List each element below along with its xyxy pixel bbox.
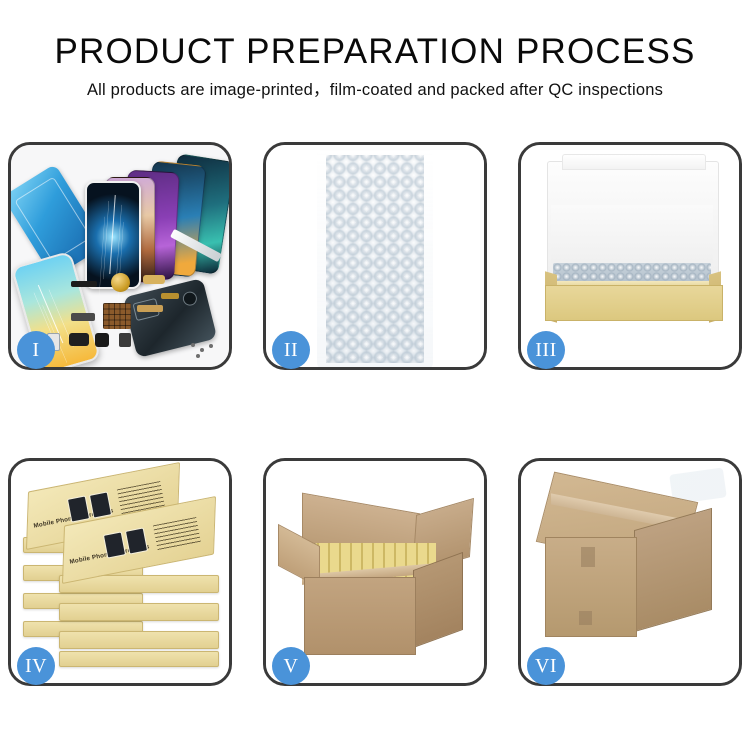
screws-icon — [191, 343, 217, 359]
page-title: PRODUCT PREPARATION PROCESS — [0, 30, 750, 74]
part-connector-icon — [71, 313, 95, 321]
phone-cracked-screen-icon — [85, 181, 141, 289]
step-badge-3: III — [527, 331, 565, 369]
carton-right-panel-icon — [413, 552, 463, 648]
step-badge-4: IV — [17, 647, 55, 685]
step-badge-6: VI — [527, 647, 565, 685]
step-card-1[interactable]: I — [8, 142, 232, 370]
part-flex-cable-icon — [137, 305, 163, 312]
part-strip-icon — [71, 281, 97, 287]
carton-side-panel-icon — [634, 508, 712, 632]
part-camera-icon — [95, 333, 109, 347]
process-steps-grid: I II III — [8, 142, 742, 686]
part-speaker-icon — [69, 333, 89, 346]
stacked-box-icon — [59, 603, 219, 621]
page-subtitle: All products are image-printed，film-coat… — [0, 79, 750, 101]
step-card-3[interactable]: III — [518, 142, 742, 370]
part-contact-icon — [161, 293, 179, 299]
page-header: PRODUCT PREPARATION PROCESS All products… — [0, 30, 750, 101]
coil-part-icon — [111, 273, 130, 292]
carton-flap-tab-icon — [581, 547, 595, 567]
box-front-panel-icon — [545, 285, 723, 321]
step-card-6[interactable]: VI — [518, 458, 742, 686]
step-badge-5: V — [272, 647, 310, 685]
stacked-box-icon — [59, 631, 219, 649]
part-flex-gold-icon — [143, 275, 165, 284]
step-card-2[interactable]: II — [263, 142, 487, 370]
foam-sheet-icon — [551, 205, 713, 263]
bubble-wrap-icon — [326, 155, 424, 363]
chip-grid-icon — [103, 303, 131, 329]
product-preparation-page: PRODUCT PREPARATION PROCESS All products… — [0, 0, 750, 750]
step-card-5[interactable]: V — [263, 458, 487, 686]
carton-flap-tab-icon — [579, 611, 592, 625]
carton-front-panel-icon — [304, 577, 416, 655]
stacked-box-icon — [59, 651, 219, 667]
step-badge-1: I — [17, 331, 55, 369]
step-badge-2: II — [272, 331, 310, 369]
box-stack-group: Mobile Phone Spare Parts Mobile Phone Sp… — [19, 475, 225, 671]
part-vibrator-icon — [119, 333, 131, 347]
phone-fan-group — [85, 157, 229, 287]
step-card-4[interactable]: Mobile Phone Spare Parts Mobile Phone Sp… — [8, 458, 232, 686]
